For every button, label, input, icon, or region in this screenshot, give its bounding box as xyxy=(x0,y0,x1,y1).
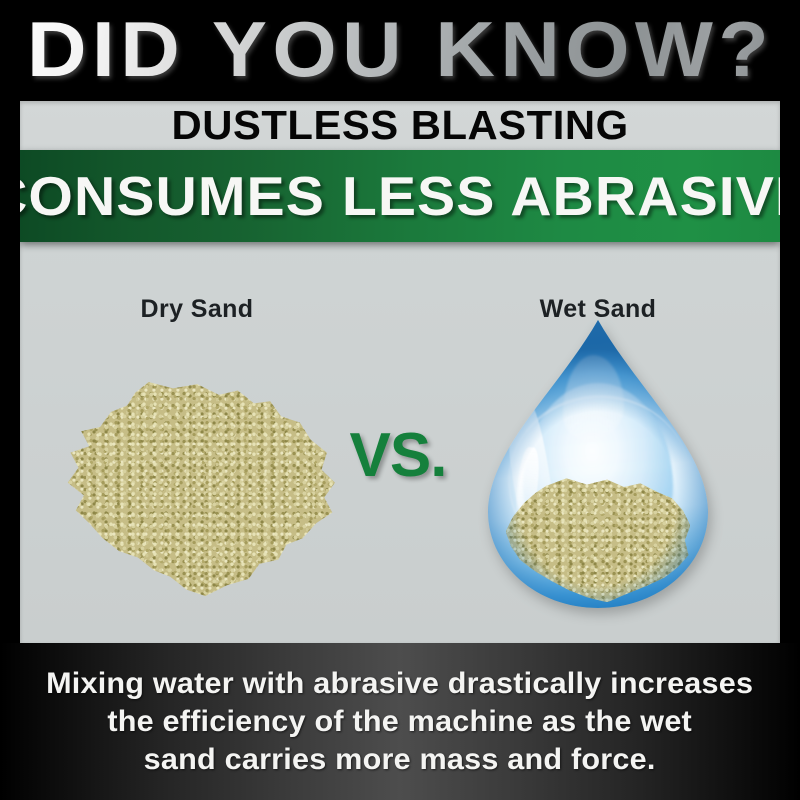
versus-label: VS. xyxy=(343,425,453,487)
caption-band: Mixing water with abrasive drastically i… xyxy=(0,643,800,800)
content-panel: DUSTLESS BLASTING CONSUMES LESS ABRASIVE… xyxy=(20,101,780,643)
comparison-stage: Dry Sand Wet Sand VS. xyxy=(20,242,780,643)
droplet-body xyxy=(488,320,708,608)
subheading-row: DUSTLESS BLASTING xyxy=(20,101,780,150)
dry-sand-pile-graphic xyxy=(65,382,335,596)
caption-line-1: Mixing water with abrasive drastically i… xyxy=(46,665,753,703)
dry-sand-label: Dry Sand xyxy=(141,297,254,322)
caption-line-2: the efficiency of the machine as the wet xyxy=(46,703,753,741)
infographic-root: DID YOU KNOW? DUSTLESS BLASTING CONSUMES… xyxy=(0,0,800,800)
caption-text: Mixing water with abrasive drastically i… xyxy=(6,665,795,779)
wet-sand-pile-graphic xyxy=(506,478,691,602)
page-title: DID YOU KNOW? xyxy=(26,10,773,92)
water-droplet-graphic xyxy=(488,320,708,608)
wet-sand-label: Wet Sand xyxy=(540,297,657,322)
header-band: DID YOU KNOW? xyxy=(0,0,800,101)
claim-banner-label: CONSUMES LESS ABRASIVE xyxy=(20,169,780,224)
caption-line-3: sand carries more mass and force. xyxy=(46,741,753,779)
brand-subheading: DUSTLESS BLASTING xyxy=(171,105,628,146)
claim-banner: CONSUMES LESS ABRASIVE xyxy=(20,150,780,242)
